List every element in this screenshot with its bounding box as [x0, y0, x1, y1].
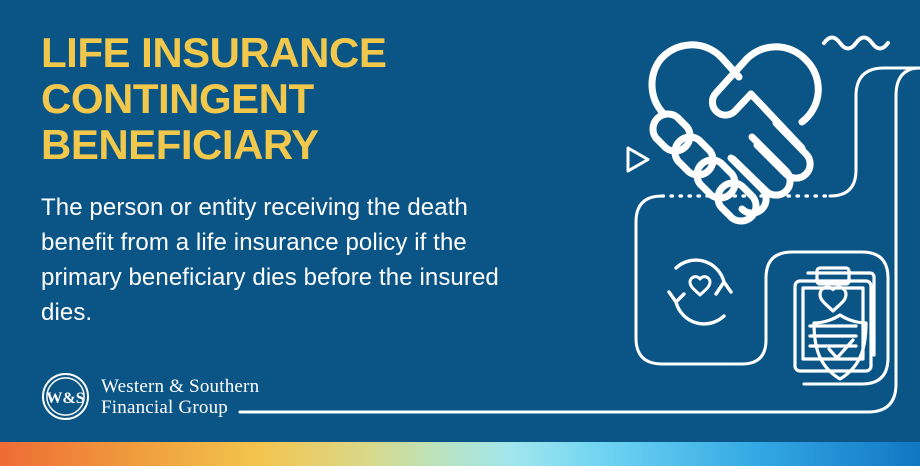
left-rounded-panel-path: [636, 196, 742, 364]
bottom-gradient-bar: [0, 442, 920, 466]
play-triangle-icon: [628, 148, 648, 171]
graphic-card: LIFE INSURANCE CONTINGENT BENEFICIARY Th…: [0, 0, 920, 466]
definition-text: The person or entity receiving the death…: [41, 190, 541, 330]
ws-monogram-icon: W&S: [41, 372, 90, 421]
cycle-heart-icon: [669, 260, 731, 324]
cycle-heart-inner-heart-icon: [690, 277, 710, 295]
brand-logo: W&S Western & Southern Financial Group: [41, 372, 259, 421]
squiggle-icon: [824, 38, 888, 49]
logo-line-2: Financial Group: [101, 397, 259, 418]
handshake-heart-icon: [652, 45, 818, 221]
svg-text:W&S: W&S: [46, 390, 85, 407]
page-title: LIFE INSURANCE CONTINGENT BENEFICIARY: [41, 30, 521, 168]
shield-check-icon: [814, 315, 866, 379]
logo-wordmark: Western & Southern Financial Group: [101, 376, 259, 418]
upper-right-corner-path: [830, 68, 920, 196]
logo-line-1: Western & Southern: [101, 376, 259, 397]
left-panel-bottom-path: [742, 340, 766, 364]
text-column: LIFE INSURANCE CONTINGENT BENEFICIARY Th…: [0, 0, 600, 440]
right-rounded-panel-path: [766, 252, 888, 384]
clipboard-heart-shield-icon: [795, 268, 874, 371]
